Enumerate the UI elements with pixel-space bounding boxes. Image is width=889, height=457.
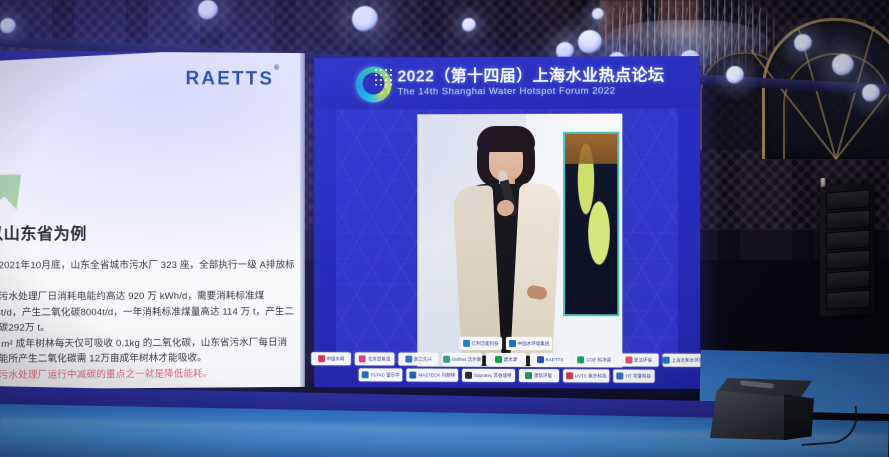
- sponsor-logo-2-mark-icon: [509, 340, 516, 347]
- sponsor-logo-10-label: 复洁环保: [634, 357, 652, 363]
- slide-highlight-text: 可见污水处理厂运行中减碳的重点之一就是降低能耗。: [0, 366, 295, 384]
- sponsor-logo-9-label: COE 科净源: [586, 357, 611, 363]
- raetts-logo-text: RAETTS: [186, 68, 275, 89]
- sponsor-logo-2-label: 中国水环境集团: [518, 341, 549, 347]
- sponsor-logo-15-mark-icon: [525, 372, 532, 379]
- logo-bubbles-icon: [374, 68, 394, 86]
- line-array-cell: [826, 229, 870, 250]
- sponsor-logo-5-label: 浙江久兴: [414, 356, 432, 362]
- sponsor-logo-14: Supratec 苏伯瑞特: [462, 369, 515, 382]
- line-array-cell: [826, 189, 870, 210]
- sponsor-logo-wall: 亿利洁能科技中国水环境集团 中国水网北京思普润浙江久兴Gethos 洁尔爽碧水源…: [326, 333, 688, 383]
- sponsor-logo-11-label: 上海太和水环境: [672, 357, 704, 363]
- sponsor-logo-16-label: UVTC 紫外科技: [575, 373, 607, 379]
- sponsor-row-bottom: FLYAC 富乐华MASTECK 玛斯特Supratec 苏伯瑞特建筑环能UVT…: [326, 368, 688, 383]
- sponsor-logo-4-label: 北京思普润: [368, 356, 390, 362]
- sponsor-logo-5: 浙江久兴: [398, 353, 438, 366]
- sponsor-logo-4-mark-icon: [359, 355, 366, 362]
- sponsor-logo-12-mark-icon: [362, 371, 369, 378]
- line-array-speaker: [820, 183, 874, 317]
- stage-light: [462, 18, 476, 32]
- stage-light: [832, 54, 854, 76]
- sponsor-row-top: 亿利洁能科技中国水环境集团: [326, 336, 688, 350]
- sponsor-logo-14-mark-icon: [465, 372, 472, 379]
- led-screen: 2022（第十四届）上海水业热点论坛 The 14th Shanghai Wat…: [314, 56, 700, 389]
- sponsor-logo-11: 上海太和水环境: [663, 354, 703, 367]
- banner-text-block: 2022（第十四届）上海水业热点论坛 The 14th Shanghai Wat…: [397, 68, 664, 97]
- sponsor-logo-10-mark-icon: [625, 356, 632, 363]
- slide-framed-photo: [563, 132, 619, 317]
- banner-title-cn: 2022（第十四届）上海水业热点论坛: [397, 68, 664, 86]
- sponsor-logo-4: 北京思普润: [355, 352, 395, 365]
- slide-photo-top-band: [565, 134, 617, 164]
- speaker-fringe: [477, 126, 535, 152]
- sponsor-logo-16: UVTC 紫外科技: [563, 369, 610, 382]
- slide-right-edge: [300, 53, 305, 387]
- sponsor-logo-7-mark-icon: [495, 356, 502, 363]
- sponsor-logo-13-mark-icon: [410, 372, 417, 379]
- sponsor-logo-15-label: 建筑环能: [534, 373, 552, 379]
- sponsor-logo-13: MASTECK 玛斯特: [407, 369, 458, 382]
- sponsor-logo-6-label: Gethos 洁尔爽: [452, 356, 481, 362]
- stage-light: [198, 0, 218, 20]
- banner-title-en: The 14th Shanghai Water Hotspot Forum 20…: [397, 86, 664, 97]
- line-array-cell: [826, 209, 870, 230]
- sponsor-logo-14-label: Supratec 苏伯瑞特: [474, 372, 512, 378]
- registered-mark-icon: ®: [274, 65, 279, 72]
- sponsor-logo-2: 中国水环境集团: [506, 337, 552, 350]
- speaker-video-feed: [417, 114, 622, 368]
- sponsor-row-mid: 中国水网北京思普润浙江久兴Gethos 洁尔爽碧水源RAETTSCOE 科净源复…: [326, 352, 688, 367]
- sponsor-logo-5-mark-icon: [405, 356, 412, 363]
- sponsor-logo-3-mark-icon: [318, 355, 325, 362]
- conference-banner: 2022（第十四届）上海水业热点论坛 The 14th Shanghai Wat…: [314, 56, 700, 110]
- slide-title: 以山东省为例: [0, 220, 287, 244]
- stage-light: [0, 18, 16, 34]
- sponsor-logo-10: 复洁环保: [618, 353, 658, 366]
- speaker-figure: [453, 126, 561, 366]
- line-array-cell: [826, 249, 870, 270]
- sponsor-logo-6: Gethos 洁尔爽: [442, 353, 482, 366]
- stage-light: [592, 8, 604, 20]
- line-array-cell: [826, 269, 870, 290]
- sponsor-logo-1-label: 亿利洁能科技: [472, 340, 499, 346]
- sponsor-logo-16-mark-icon: [566, 372, 573, 379]
- slide-body: 截至2021年10月底，山东全省城市污水厂 323 座，全部执行一级 A排放标准…: [0, 258, 295, 384]
- speaker-cardigan-right: [511, 183, 562, 357]
- projected-slide: RAETTS® 以山东省为例 截至2021年10月底，山东全省城市污水厂 323…: [0, 51, 305, 389]
- sponsor-logo-6-mark-icon: [443, 356, 450, 363]
- slide-paragraph: 截至2021年10月底，山东全省城市污水厂 323 座，全部执行一级 A排放标准…: [0, 258, 295, 290]
- sponsor-logo-3-label: 中国水网: [327, 356, 345, 362]
- stage-light: [794, 34, 812, 52]
- sponsor-logo-17-mark-icon: [617, 373, 624, 380]
- sponsor-logo-9: COE 科净源: [574, 353, 614, 366]
- raetts-logo: RAETTS®: [186, 68, 280, 90]
- sponsor-logo-8-label: RAETTS: [546, 357, 564, 362]
- sponsor-logo-8-mark-icon: [537, 356, 544, 363]
- slide-top-bar: [0, 51, 305, 61]
- sponsor-logo-12: FLYAC 富乐华: [359, 368, 402, 381]
- sponsor-logo-17-label: HT 华夏科技: [626, 373, 651, 379]
- sponsor-logo-11-mark-icon: [662, 357, 669, 364]
- sponsor-logo-1-mark-icon: [463, 340, 470, 347]
- monitor-front-grille: [710, 390, 792, 440]
- sponsor-logo-13-label: MASTECK 玛斯特: [419, 372, 456, 378]
- sponsor-logo-12-label: FLYAC 富乐华: [371, 372, 400, 378]
- sponsor-logo-8: RAETTS: [530, 353, 570, 366]
- sponsor-logo-9-mark-icon: [577, 356, 584, 363]
- sponsor-logo-7: 碧水源: [486, 353, 526, 366]
- slide-paragraph: 全省污水处理厂日消耗电能约高达 920 万 kWh/d，需要消耗标准煤 3128…: [0, 289, 295, 337]
- stage-light: [862, 84, 880, 102]
- sponsor-logo-15: 建筑环能: [519, 369, 559, 382]
- sponsor-logo-3: 中国水网: [311, 352, 351, 365]
- stage-light: [352, 6, 378, 32]
- sponsor-logo-17: HT 华夏科技: [614, 369, 655, 382]
- sponsor-logo-1: 亿利洁能科技: [460, 337, 502, 350]
- sponsor-logo-7-label: 碧水源: [504, 356, 517, 362]
- slide-paragraph: 每亩 m² 成年树林每天仅可吸收 0.1kg 的二氧化碳，山东省污水厂每日消耗电…: [0, 335, 295, 368]
- conference-stage-scene: 2022（第十四届）上海水业热点论坛 The 14th Shanghai Wat…: [0, 0, 889, 457]
- line-array-cell: [826, 289, 870, 310]
- stage-light: [726, 66, 744, 84]
